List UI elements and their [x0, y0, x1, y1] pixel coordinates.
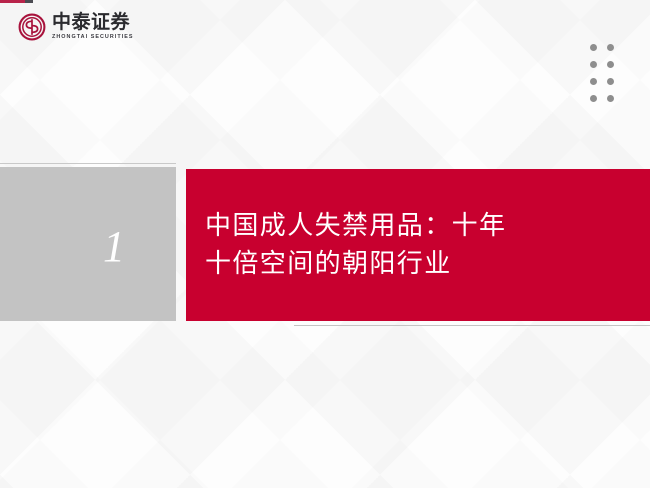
brand-name-cn: 中泰证券 [52, 13, 134, 32]
dot [607, 95, 614, 102]
zhongtai-emblem-icon [18, 13, 46, 41]
decorative-dot-grid [590, 44, 614, 102]
section-title-banner: 中国成人失禁用品：十年 十倍空间的朝阳行业 [186, 169, 650, 321]
section-number: 1 [103, 221, 125, 272]
brand-name-en: ZHONGTAI SECURITIES [52, 35, 134, 40]
dot [607, 61, 614, 68]
divider-line-upper-left [0, 163, 176, 164]
brand-logo: 中泰证券 ZHONGTAI SECURITIES [18, 13, 134, 41]
dot [607, 44, 614, 51]
dot [590, 95, 597, 102]
brand-logo-text: 中泰证券 ZHONGTAI SECURITIES [52, 13, 134, 40]
dot [590, 44, 597, 51]
top-accent-bar-red [0, 0, 25, 3]
dot [607, 78, 614, 85]
dot [590, 78, 597, 85]
section-number-block: 1 [0, 167, 176, 321]
divider-line-lower-right [294, 325, 650, 326]
presentation-slide: 中泰证券 ZHONGTAI SECURITIES 1 中国成人失禁用品：十年 十… [0, 0, 650, 488]
section-title: 中国成人失禁用品：十年 十倍空间的朝阳行业 [205, 207, 506, 284]
top-accent-bar-dark [25, 0, 33, 3]
dot [590, 61, 597, 68]
